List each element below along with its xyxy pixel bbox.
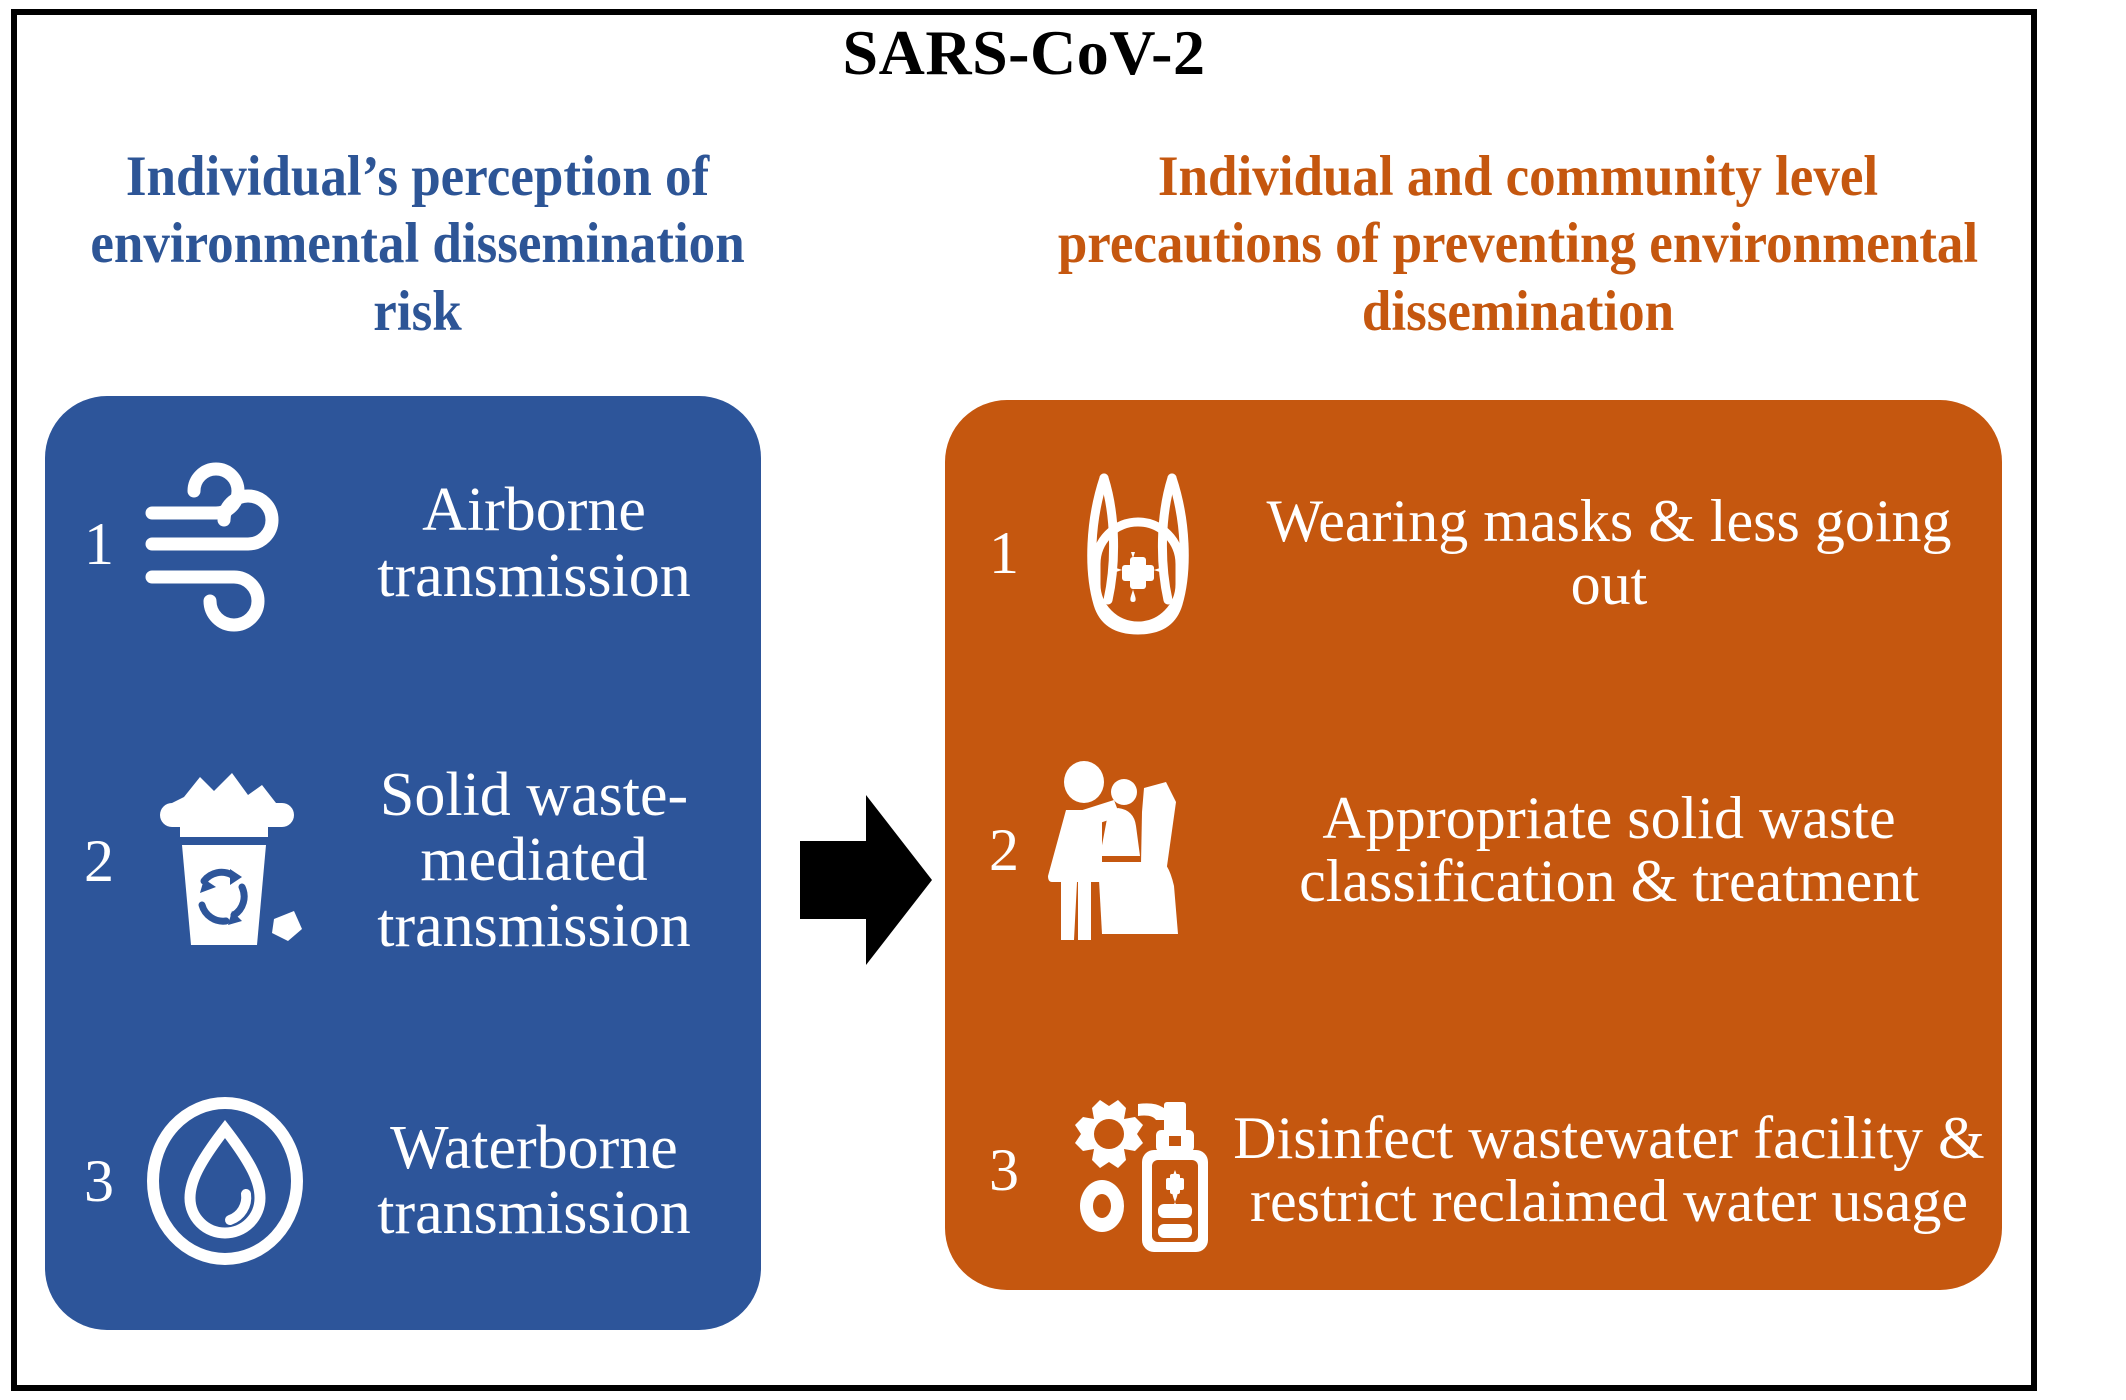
list-item: 3 Waterborne transmission [63, 1066, 753, 1296]
list-item-label: Waterborne transmission [315, 1116, 753, 1246]
face-mask-icon [1043, 463, 1233, 643]
list-item: 2 Appropriate solid waste classifica [965, 730, 1985, 970]
list-item-number: 2 [63, 831, 135, 891]
waste-disposal-person-icon [1043, 760, 1233, 940]
trash-recycle-icon [135, 781, 315, 941]
right-column-heading: Individual and community level precautio… [1053, 143, 1983, 345]
list-item: 1 Wearing masks & less going out [965, 430, 1985, 675]
water-drop-circle-icon [135, 1101, 315, 1261]
list-item: 3 [965, 1040, 1985, 1300]
list-item-label: Wearing masks & less going out [1233, 490, 1985, 616]
sanitizer-gear-icon [1043, 1080, 1233, 1260]
list-item-label: Solid waste-mediated transmission [315, 763, 753, 958]
infographic-figure: SARS-CoV-2 Individual’s perception of en… [0, 0, 2126, 1400]
risk-perception-panel: 1 Airborne transmission 2 [45, 396, 761, 1330]
list-item-number: 2 [965, 820, 1043, 880]
arrow-right-icon [800, 795, 932, 965]
left-column-heading: Individual’s perception of environmental… [57, 143, 778, 345]
list-item: 2 [63, 706, 753, 1016]
precautions-panel: 1 Wearing masks & less going out [945, 400, 2002, 1290]
list-item-label: Appropriate solid waste classification &… [1233, 787, 1985, 913]
list-item-number: 3 [965, 1140, 1043, 1200]
list-item-number: 1 [965, 523, 1043, 583]
list-item: 1 Airborne transmission [63, 436, 753, 651]
page-title: SARS-CoV-2 [0, 16, 2048, 90]
list-item-number: 1 [63, 514, 135, 574]
list-item-label: Airborne transmission [315, 478, 753, 608]
list-item-label: Disinfect wastewater facility & restrict… [1233, 1107, 1985, 1233]
wind-icon [135, 464, 315, 624]
list-item-number: 3 [63, 1151, 135, 1211]
